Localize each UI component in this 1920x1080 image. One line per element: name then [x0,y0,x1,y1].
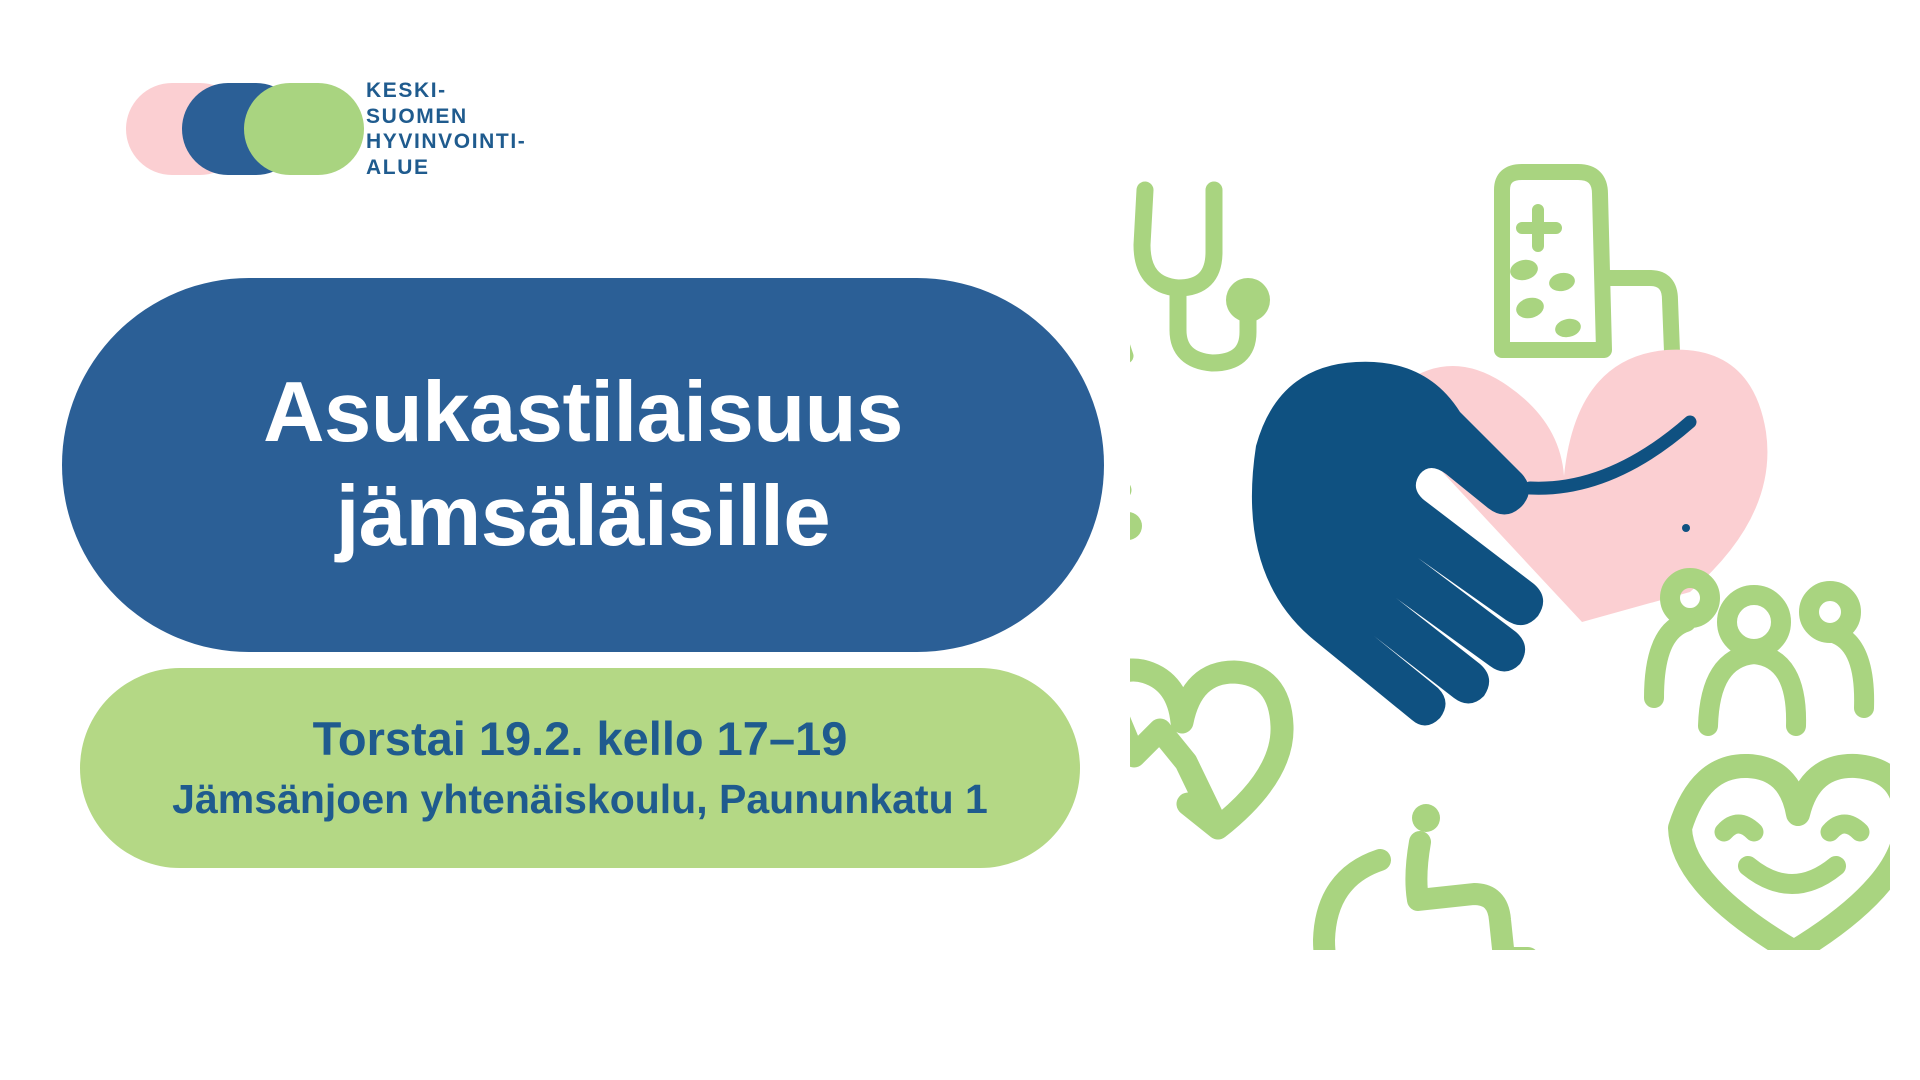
event-title-card: Asukastilaisuus jämsäläisille [62,278,1104,652]
smiling-heart-icon [1680,766,1890,950]
heart-hands-icon [1252,350,1768,726]
event-location: Jämsänjoen yhtenäiskoulu, Paununkatu 1 [172,773,988,826]
alarm-beacon-icon [1130,336,1142,540]
healthcare-illustration [1130,160,1890,950]
ecg-heart-icon [1130,670,1282,828]
logo-mark-icon [126,83,341,175]
event-datetime: Torstai 19.2. kello 17–19 [313,709,848,769]
event-details-card: Torstai 19.2. kello 17–19 Jämsänjoen yht… [80,668,1080,868]
stethoscope-icon [1142,190,1270,363]
brand-logo: KESKI- SUOMEN HYVINVOINTI- ALUE [126,78,526,180]
family-group-icon [1654,578,1864,726]
event-title-line-2: jämsäläisille [336,465,830,569]
event-title-line-1: Asukastilaisuus [263,361,903,465]
logo-pill-green-icon [244,83,364,175]
pill-blister-pack-icon [1502,172,1672,352]
poster-canvas: KESKI- SUOMEN HYVINVOINTI- ALUE Asukasti… [0,0,1920,1080]
wheelchair-accessibility-icon [1324,804,1528,950]
logo-wordmark: KESKI- SUOMEN HYVINVOINTI- ALUE [366,78,526,180]
